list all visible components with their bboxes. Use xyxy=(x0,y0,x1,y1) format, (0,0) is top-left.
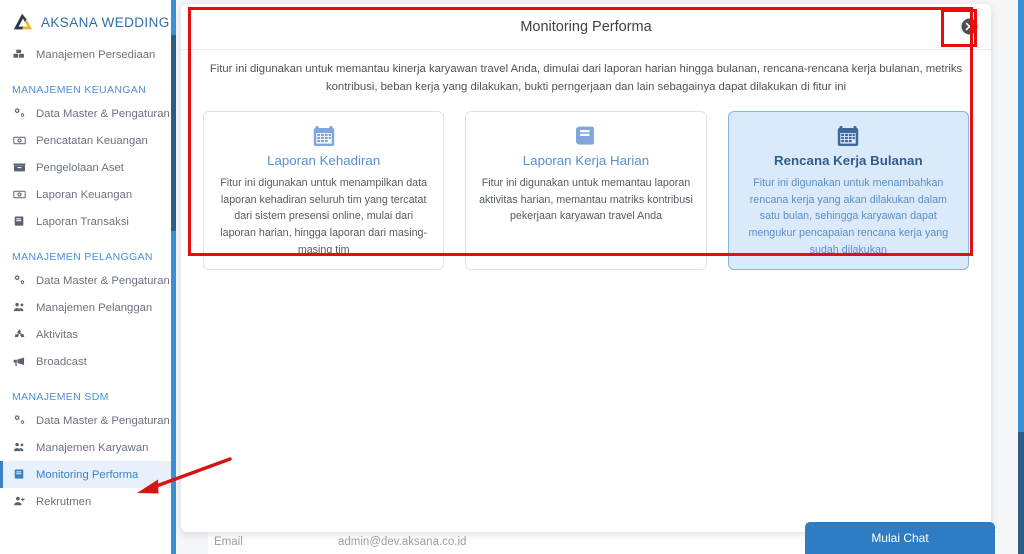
sidebar-item-manajemen-pelanggan[interactable]: Manajemen Pelanggan xyxy=(0,294,172,321)
sidebar-group-title-keuangan: MANAJEMEN KEUANGAN xyxy=(0,84,172,96)
users-icon xyxy=(12,441,27,454)
book-icon xyxy=(12,215,27,228)
sidebar-item-manajemen-karyawan[interactable]: Manajemen Karyawan xyxy=(0,434,172,461)
feature-card-laporan-kehadiran[interactable]: Laporan Kehadiran Fitur ini digunakan un… xyxy=(203,111,444,271)
mulai-chat-button[interactable]: Mulai Chat xyxy=(805,522,995,554)
sidebar-item-label: Rekrutmen xyxy=(36,496,91,508)
sidebar-item-data-master-keuangan[interactable]: Data Master & Pengaturan xyxy=(0,100,172,127)
book-icon xyxy=(478,124,693,150)
feature-card-title: Laporan Kehadiran xyxy=(216,153,431,168)
sidebar-item-label: Monitoring Performa xyxy=(36,469,138,481)
email-field-label: Email xyxy=(208,536,338,548)
mulai-chat-label: Mulai Chat xyxy=(871,531,928,545)
sidebar-item-label: Manajemen Pelanggan xyxy=(36,302,152,314)
sidebar-item-label: Manajemen Persediaan xyxy=(36,49,155,61)
brand-logo[interactable]: AKSANA WEDDING xyxy=(0,0,172,34)
page-scrollbar-track[interactable] xyxy=(1018,0,1024,554)
sidebar-item-label: Data Master & Pengaturan xyxy=(36,108,170,120)
modal-title: Monitoring Performa xyxy=(520,19,651,35)
sidebar-item-label: Laporan Transaksi xyxy=(36,216,129,228)
feature-cards-list: Laporan Kehadiran Fitur ini digunakan un… xyxy=(181,97,991,271)
gears-icon xyxy=(12,414,27,427)
sidebar-group-title-pelanggan: MANAJEMEN PELANGGAN xyxy=(0,251,172,263)
sidebar-item-label: Pengelolaan Aset xyxy=(36,162,124,174)
sidebar-item-laporan-transaksi[interactable]: Laporan Transaksi xyxy=(0,208,172,235)
main-content-area: Email admin@dev.aksana.co.id Monitoring … xyxy=(176,0,1019,554)
sidebar-item-pengelolaan-aset[interactable]: Pengelolaan Aset xyxy=(0,154,172,181)
sidebar-item-label: Broadcast xyxy=(36,356,87,368)
book-icon xyxy=(12,468,27,481)
monitoring-performa-modal: Monitoring Performa Fitur ini digunakan … xyxy=(181,4,991,532)
sidebar-group-title-sdm: MANAJEMEN SDM xyxy=(0,391,172,403)
gears-icon xyxy=(12,107,27,120)
calendar-icon xyxy=(741,124,956,150)
sidebar-item-laporan-keuangan[interactable]: Laporan Keuangan xyxy=(0,181,172,208)
modal-header: Monitoring Performa xyxy=(181,4,991,50)
sidebar-item-broadcast[interactable]: Broadcast xyxy=(0,348,172,375)
feature-card-text: Fitur ini digunakan untuk menampilkan da… xyxy=(216,175,431,260)
sidebar-item-monitoring-performa[interactable]: Monitoring Performa xyxy=(0,461,172,488)
page-scrollbar-thumb[interactable] xyxy=(1018,0,1024,432)
sidebar-item-label: Data Master & Pengaturan xyxy=(36,415,170,427)
boxes-icon xyxy=(12,48,27,61)
sidebar-item-rekrutmen[interactable]: Rekrutmen xyxy=(0,488,172,515)
feature-card-laporan-kerja-harian[interactable]: Laporan Kerja Harian Fitur ini digunakan… xyxy=(465,111,706,271)
sidebar-item-label: Pencatatan Keuangan xyxy=(36,135,148,147)
sidebar-item-manajemen-persediaan[interactable]: Manajemen Persediaan xyxy=(0,41,172,68)
sidebar-item-label: Data Master & Pengaturan xyxy=(36,275,170,287)
sidebar-item-data-master-sdm[interactable]: Data Master & Pengaturan xyxy=(0,407,172,434)
sidebar-item-label: Aktivitas xyxy=(36,329,78,341)
users-icon xyxy=(12,301,27,314)
spacer xyxy=(0,34,172,41)
feature-card-rencana-kerja-bulanan[interactable]: Rencana Kerja Bulanan Fitur ini digunaka… xyxy=(728,111,969,271)
sidebar-item-aktivitas[interactable]: Aktivitas xyxy=(0,321,172,348)
sidebar-item-label: Laporan Keuangan xyxy=(36,189,132,201)
archive-box-icon xyxy=(12,161,27,174)
brand-name: AKSANA WEDDING xyxy=(41,15,170,30)
delta-triangle-logo-icon xyxy=(12,11,34,33)
close-circle-icon[interactable] xyxy=(960,17,979,36)
user-plus-icon xyxy=(12,495,27,508)
feature-card-title: Laporan Kerja Harian xyxy=(478,153,693,168)
modal-description: Fitur ini digunakan untuk memantau kiner… xyxy=(181,50,991,97)
sidebar: AKSANA WEDDING Manajemen Persediaan MANA… xyxy=(0,0,172,554)
feature-card-text: Fitur ini digunakan untuk memantau lapor… xyxy=(478,175,693,226)
bullhorn-icon xyxy=(12,355,27,368)
money-bill-icon xyxy=(12,134,27,147)
recycle-icon xyxy=(12,328,27,341)
sidebar-item-pencatatan-keuangan[interactable]: Pencatatan Keuangan xyxy=(0,127,172,154)
sidebar-item-data-master-pelanggan[interactable]: Data Master & Pengaturan xyxy=(0,267,172,294)
sidebar-item-label: Manajemen Karyawan xyxy=(36,442,148,454)
feature-card-title: Rencana Kerja Bulanan xyxy=(741,153,956,168)
gears-icon xyxy=(12,274,27,287)
calendar-icon xyxy=(216,124,431,150)
feature-card-text: Fitur ini digunakan untuk menambahkan re… xyxy=(741,175,956,260)
money-bill-icon xyxy=(12,188,27,201)
